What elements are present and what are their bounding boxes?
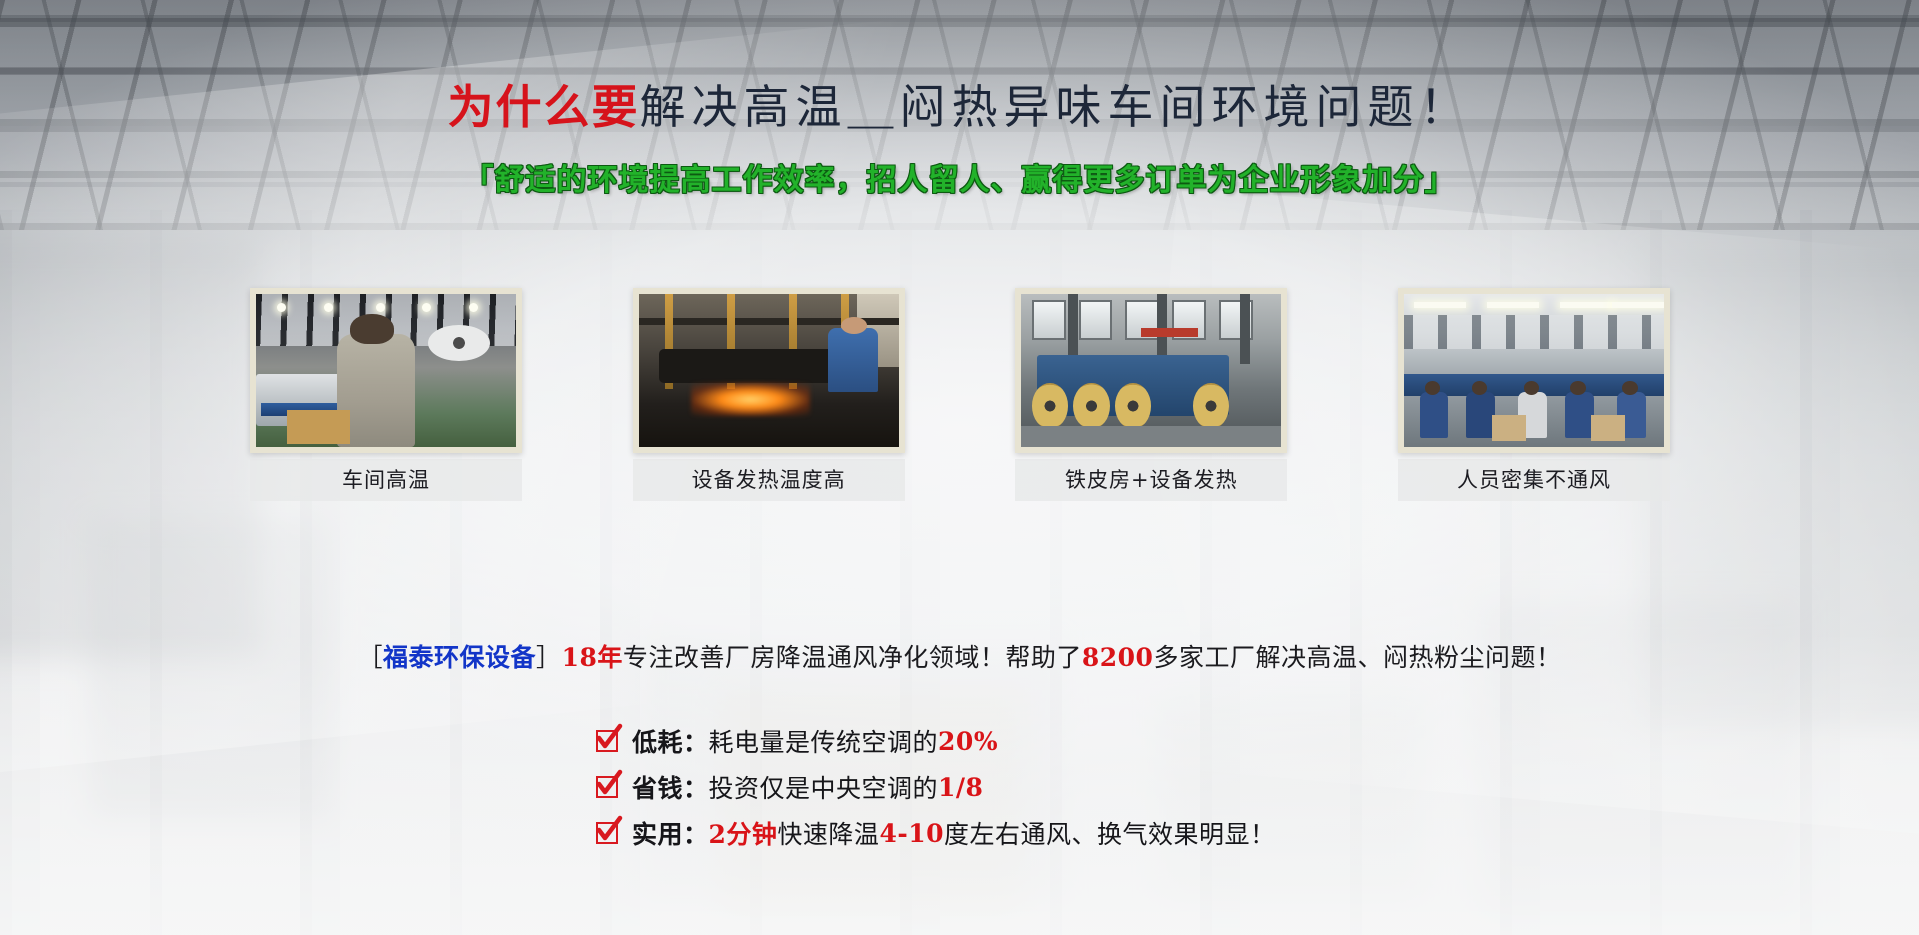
- benefit-highlight-a: 1/8: [938, 773, 983, 802]
- page-title: 为什么要解决高温＿闷热异味车间环境问题！: [0, 84, 1919, 130]
- benefit-list: 低耗：耗电量是传统空调的20% 省钱：投资仅是中央空调的1/8 实用：2分钟快速…: [596, 718, 1276, 856]
- problem-card[interactable]: 铁皮房+设备发热: [1015, 288, 1287, 448]
- brand-name: 福泰环保设备: [383, 643, 536, 672]
- promo-text-mid: 专注改善厂房降温通风净化领域！帮助了: [623, 643, 1082, 672]
- checkbox-checked-icon: [596, 822, 618, 844]
- company-promo-line: ［福泰环保设备］18年专注改善厂房降温通风净化领域！帮助了8200多家工厂解决高…: [0, 638, 1919, 674]
- benefit-text-c: 度左右通风、换气效果明显！: [944, 815, 1276, 851]
- problem-card[interactable]: 车间高温: [250, 288, 522, 448]
- benefit-item-cost-saving: 省钱：投资仅是中央空调的1/8: [596, 764, 1276, 810]
- benefit-highlight-a: 2分钟: [709, 815, 778, 851]
- benefit-text-b: 快速降温: [777, 815, 879, 851]
- banner-stage: 为什么要解决高温＿闷热异味车间环境问题！ 「舒适的环境提高工作效率，招人留人、赢…: [0, 0, 1919, 935]
- problem-card[interactable]: 人员密集不通风: [1398, 288, 1670, 448]
- checkbox-checked-icon: [596, 776, 618, 798]
- benefit-highlight-b: 4-10: [879, 819, 944, 848]
- page-subtitle: 「舒适的环境提高工作效率，招人留人、赢得更多订单为企业形象加分」: [0, 155, 1919, 199]
- metal-shed-photo: [1015, 288, 1287, 453]
- problem-card[interactable]: 设备发热温度高: [633, 288, 905, 448]
- promo-text-end: 多家工厂解决高温、闷热粉尘问题！: [1153, 643, 1561, 672]
- benefit-label: 实用：: [632, 815, 709, 851]
- page-title-highlight: 为什么要: [448, 80, 640, 134]
- problem-card-caption: 设备发热温度高: [633, 459, 905, 501]
- benefit-text-a: 耗电量是传统空调的: [709, 723, 939, 759]
- problem-card-caption: 车间高温: [250, 459, 522, 501]
- problem-card-list: 车间高温 设备发热温度高: [250, 288, 1670, 448]
- bracket-open: ［: [358, 643, 384, 672]
- bracket-close: ］: [536, 643, 562, 672]
- benefit-label: 低耗：: [632, 723, 709, 759]
- years-highlight: 18年: [562, 643, 623, 672]
- benefit-label: 省钱：: [632, 769, 709, 805]
- crowded-line-photo: [1398, 288, 1670, 453]
- benefit-item-low-consumption: 低耗：耗电量是传统空调的20%: [596, 718, 1276, 764]
- benefit-item-practical: 实用：2分钟快速降温4-10度左右通风、换气效果明显！: [596, 810, 1276, 856]
- equipment-heat-photo: [633, 288, 905, 453]
- problem-card-caption: 人员密集不通风: [1398, 459, 1670, 501]
- benefit-highlight-a: 20%: [938, 727, 998, 756]
- benefit-text-a: 投资仅是中央空调的: [709, 769, 939, 805]
- page-title-rest: 解决高温＿闷热异味车间环境问题！: [640, 80, 1472, 134]
- factory-count-highlight: 8200: [1082, 643, 1154, 672]
- problem-card-caption: 铁皮房+设备发热: [1015, 459, 1287, 501]
- workshop-heat-photo: [250, 288, 522, 453]
- checkbox-checked-icon: [596, 730, 618, 752]
